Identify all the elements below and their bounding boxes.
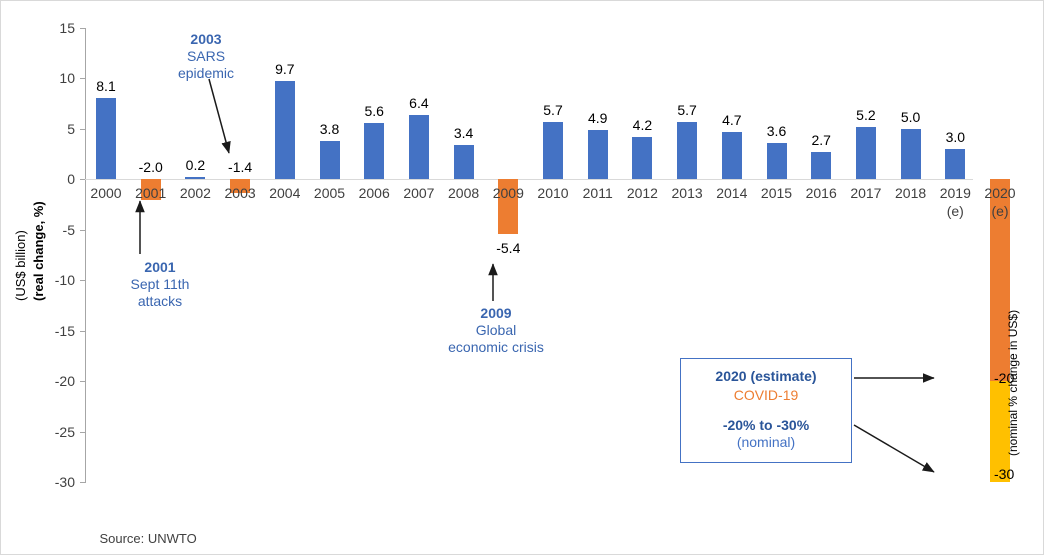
category-year: 2004 (269, 185, 300, 201)
range-endpoint-label-30: -30 (994, 467, 1014, 481)
callout-line-covid: COVID-19 (681, 386, 851, 404)
category-year: 2000 (90, 185, 121, 201)
value-label-2005: 3.8 (306, 122, 354, 136)
callout-line-nominal: (nominal) (681, 434, 851, 452)
annotation-sars-line1: SARS (161, 48, 251, 65)
category-year: 2017 (850, 185, 881, 201)
bar-2010 (543, 122, 563, 180)
annotation-gfc-line2: economic crisis (421, 339, 571, 356)
y-tick-label--15: -15 (33, 324, 75, 338)
category-year: 2012 (627, 185, 658, 201)
category-year: 2001 (135, 185, 166, 201)
y-tick-label--10: -10 (33, 273, 75, 287)
y-axis-line (85, 28, 86, 482)
bar-2012 (632, 137, 652, 179)
annotation-sars-line2: epidemic (161, 65, 251, 82)
category-year: 2020 (984, 185, 1015, 201)
bar-2013 (677, 122, 697, 180)
value-label-2004: 9.7 (261, 62, 309, 76)
value-label-2003: -1.4 (216, 160, 264, 174)
category-year: 2018 (895, 185, 926, 201)
value-label-2016: 2.7 (797, 133, 845, 147)
bar-2018 (901, 129, 921, 179)
annotation-sept11: 2001 Sept 11th attacks (101, 259, 219, 309)
value-label-2014: 4.7 (708, 113, 756, 127)
value-label-2011: 4.9 (574, 111, 622, 125)
y-tick-label-5: 5 (33, 122, 75, 136)
y-tick-label-0: 0 (33, 172, 75, 186)
annotation-sept11-line1: Sept 11th (101, 276, 219, 293)
callout-line-title: 2020 (estimate) (681, 368, 851, 386)
bar-2017 (856, 127, 876, 179)
category-year: 2002 (180, 185, 211, 201)
chart-figure: (US$ billion) (real change, %) 151050-5-… (0, 0, 1044, 555)
category-year: 2009 (493, 185, 524, 201)
value-label-2017: 5.2 (842, 108, 890, 122)
y-tick-label--5: -5 (33, 223, 75, 237)
value-label-2000: 8.1 (82, 79, 130, 93)
value-label-2019: 3.0 (931, 130, 979, 144)
value-label-2002: 0.2 (171, 158, 219, 172)
category-year: 2015 (761, 185, 792, 201)
plot-area: 151050-5-10-15-20-25-30 2000200120022003… (85, 28, 1015, 482)
y-tick--5 (80, 230, 86, 231)
annotation-sept11-line2: attacks (101, 293, 219, 310)
callout-line-range: -20% to -30% (681, 417, 851, 435)
zero-baseline (85, 179, 973, 180)
bar-2006 (364, 123, 384, 179)
y-tick-label--30: -30 (33, 475, 75, 489)
y-tick--10 (80, 280, 86, 281)
bar-2016 (811, 152, 831, 179)
annotation-sept11-year: 2001 (101, 259, 219, 276)
category-year: 2003 (225, 185, 256, 201)
category-year: 2008 (448, 185, 479, 201)
y-tick-15 (80, 28, 86, 29)
source-text: Source: UNWTO (99, 531, 196, 546)
y-tick--15 (80, 331, 86, 332)
bar-2002 (185, 177, 205, 179)
value-label-2013: 5.7 (663, 103, 711, 117)
category-year: 2005 (314, 185, 345, 201)
value-label-2008: 3.4 (440, 126, 488, 140)
value-label-2009: -5.4 (484, 241, 532, 255)
category-year: 2014 (716, 185, 747, 201)
source-footer: Source: UNWTO (e) Estimate (85, 516, 197, 555)
category-year: 2016 (806, 185, 837, 201)
category-year: 2013 (672, 185, 703, 201)
value-label-2001: -2.0 (127, 160, 175, 174)
y-tick-label--25: -25 (33, 425, 75, 439)
bar-2008 (454, 145, 474, 179)
range-endpoint-label-20: -20 (994, 371, 1014, 385)
annotation-global-crisis: 2009 Global economic crisis (421, 305, 571, 355)
category-label-2020: 2020(e) (974, 185, 1026, 220)
value-label-2018: 5.0 (887, 110, 935, 124)
bar-2014 (722, 132, 742, 179)
y-axis-secondary-title: (US$ billion) (13, 230, 28, 301)
value-label-2012: 4.2 (618, 118, 666, 132)
bar-2004 (275, 81, 295, 179)
value-label-2015: 3.6 (753, 124, 801, 138)
category-year: 2010 (537, 185, 568, 201)
covid-callout-box: 2020 (estimate) COVID-19 -20% to -30% (n… (680, 358, 852, 463)
value-label-2010: 5.7 (529, 103, 577, 117)
bar-2011 (588, 130, 608, 179)
category-year: 2011 (583, 185, 613, 201)
category-year: 2006 (359, 185, 390, 201)
y-tick-5 (80, 129, 86, 130)
category-estimate-note: (e) (974, 203, 1026, 221)
y-tick--25 (80, 432, 86, 433)
value-label-2006: 5.6 (350, 104, 398, 118)
y-tick--20 (80, 381, 86, 382)
annotation-gfc-year: 2009 (421, 305, 571, 322)
y-tick-label--20: -20 (33, 374, 75, 388)
y-tick--30 (80, 482, 86, 483)
bar-2015 (767, 143, 787, 179)
bar-2019 (945, 149, 965, 179)
annotation-sars: 2003 SARS epidemic (161, 31, 251, 81)
annotation-gfc-line1: Global (421, 322, 571, 339)
bar-2000 (96, 98, 116, 180)
y-tick-label-15: 15 (33, 21, 75, 35)
bar-2007 (409, 115, 429, 180)
category-year: 2007 (403, 185, 434, 201)
bar-2005 (320, 141, 340, 179)
y-tick-label-10: 10 (33, 71, 75, 85)
annotation-sars-year: 2003 (161, 31, 251, 48)
category-year: 2019 (940, 185, 971, 201)
value-label-2007: 6.4 (395, 96, 443, 110)
